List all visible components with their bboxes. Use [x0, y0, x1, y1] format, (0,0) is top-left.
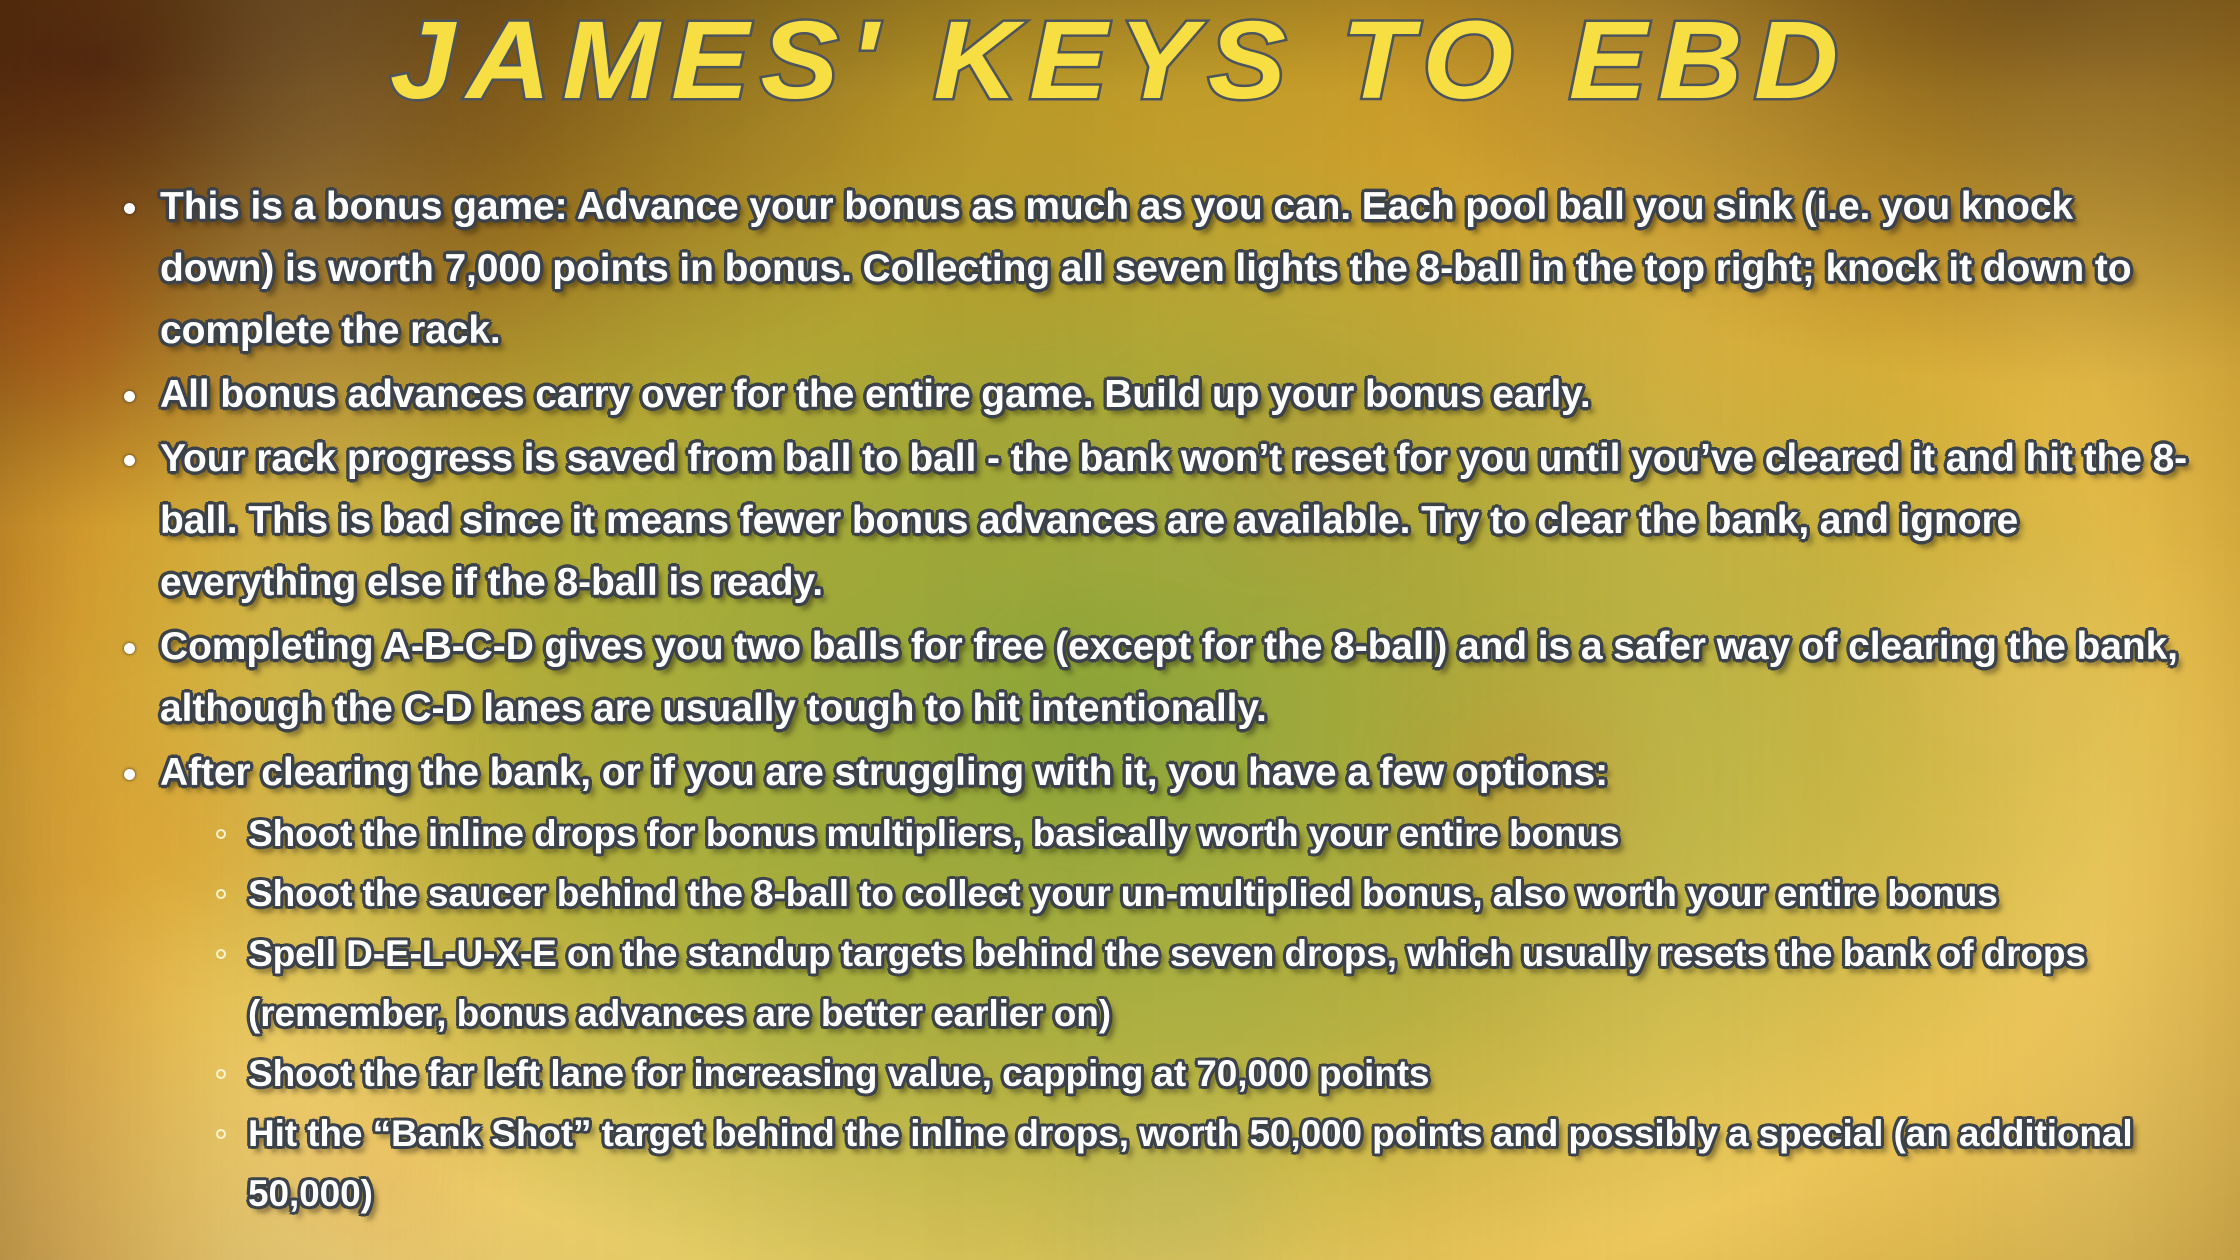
sub-bullet-item: Shoot the far left lane for increasing v…	[206, 1044, 2188, 1104]
slide-root: JAMES' KEYS TO EBD This is a bonus game:…	[0, 0, 2240, 1260]
bullet-item: All bonus advances carry over for the en…	[108, 364, 2188, 426]
bullet-text: After clearing the bank, or if you are s…	[160, 751, 1608, 794]
sub-bullet-item: Hit the “Bank Shot” target behind the in…	[206, 1104, 2188, 1224]
sub-bullet-item: Shoot the saucer behind the 8-ball to co…	[206, 864, 2188, 924]
bullet-item: Your rack progress is saved from ball to…	[108, 428, 2188, 614]
slide-content: JAMES' KEYS TO EBD This is a bonus game:…	[0, 0, 2240, 1260]
bullet-item: Completing A-B-C-D gives you two balls f…	[108, 616, 2188, 740]
sub-bullet-item: Spell D-E-L-U-X-E on the standup targets…	[206, 924, 2188, 1044]
sub-bullet-item: Shoot the inline drops for bonus multipl…	[206, 804, 2188, 864]
slide-title: JAMES' KEYS TO EBD	[0, 6, 2240, 116]
keys-bullet-list: This is a bonus game: Advance your bonus…	[108, 176, 2188, 1226]
bullet-item: After clearing the bank, or if you are s…	[108, 742, 2188, 1224]
bullet-item: This is a bonus game: Advance your bonus…	[108, 176, 2188, 362]
options-sublist: Shoot the inline drops for bonus multipl…	[160, 804, 2188, 1224]
